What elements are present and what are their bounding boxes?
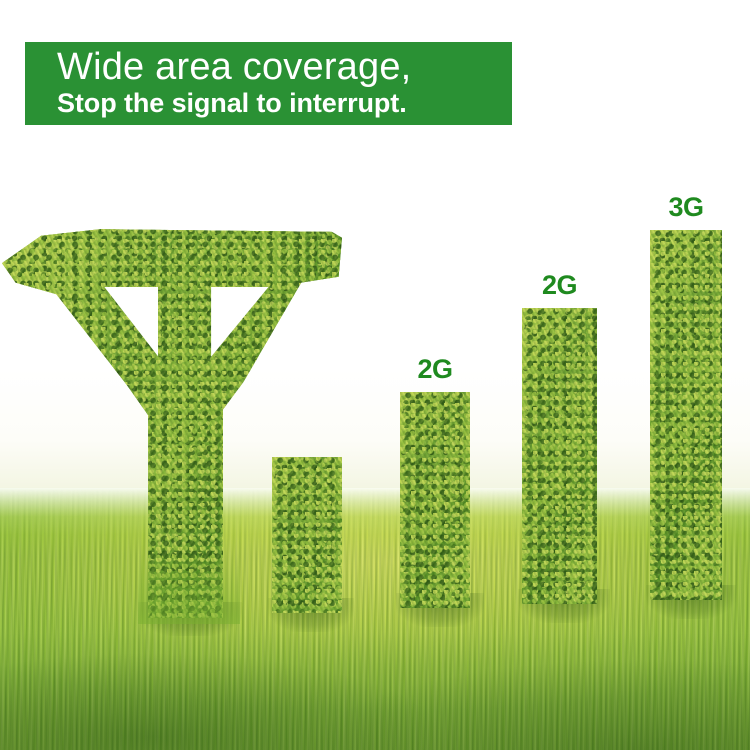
banner-title: Wide area coverage, xyxy=(57,44,411,90)
signal-bar-2: 2G xyxy=(400,392,470,608)
signal-bar-2-label: 2G xyxy=(417,356,452,383)
signal-bar-3-hedge xyxy=(522,308,597,604)
signal-bar-3: 2G xyxy=(522,308,597,604)
signal-bar-4: 3G xyxy=(650,230,722,600)
signal-bar-4-hedge xyxy=(650,230,722,600)
signal-bar-1 xyxy=(272,457,342,613)
headline-banner: Wide area coverage, Stop the signal to i… xyxy=(25,42,512,125)
signal-bar-1-hedge xyxy=(272,457,342,613)
signal-bar-2-hedge xyxy=(400,392,470,608)
poster-canvas: 2G 2G 3G Wide area coverage, Stop the si… xyxy=(0,0,750,750)
signal-bar-3-label: 2G xyxy=(542,272,577,299)
signal-bar-4-label: 3G xyxy=(668,194,703,221)
banner-subtitle: Stop the signal to interrupt. xyxy=(57,86,407,120)
